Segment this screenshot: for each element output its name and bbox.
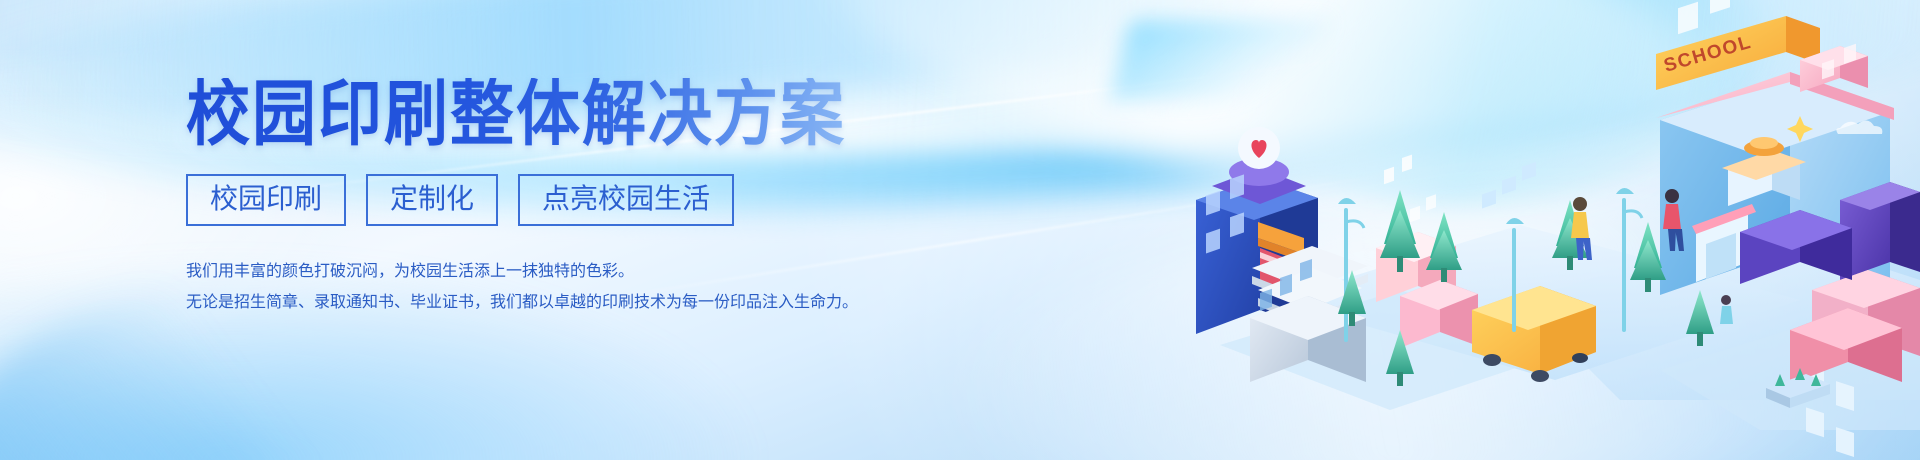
feature-tag-list: 校园印刷 定制化 点亮校园生活 [186, 174, 946, 226]
banner-description: 我们用丰富的颜色打破沉闷，为校园生活添上一抹独特的色彩。 无论是招生简章、录取通… [186, 256, 946, 318]
description-line-1: 我们用丰富的颜色打破沉闷，为校园生活添上一抹独特的色彩。 [186, 256, 946, 287]
heart-icon [1238, 127, 1280, 169]
banner-text-block: 校园印刷整体解决方案 校园印刷 定制化 点亮校园生活 我们用丰富的颜色打破沉闷，… [186, 78, 946, 319]
description-line-2: 无论是招生简章、录取通知书、毕业证书，我们都以卓越的印刷技术为每一份印品注入生命… [186, 287, 946, 318]
campus-printing-banner: SCHOOL [0, 0, 1920, 460]
page-title: 校园印刷整体解决方案 [186, 78, 946, 150]
feature-tag-campus-printing[interactable]: 校园印刷 [186, 174, 346, 226]
feature-tag-campus-life[interactable]: 点亮校园生活 [518, 174, 734, 226]
feature-tag-customization[interactable]: 定制化 [366, 174, 498, 226]
campus-illustration: SCHOOL [1100, 0, 1920, 460]
